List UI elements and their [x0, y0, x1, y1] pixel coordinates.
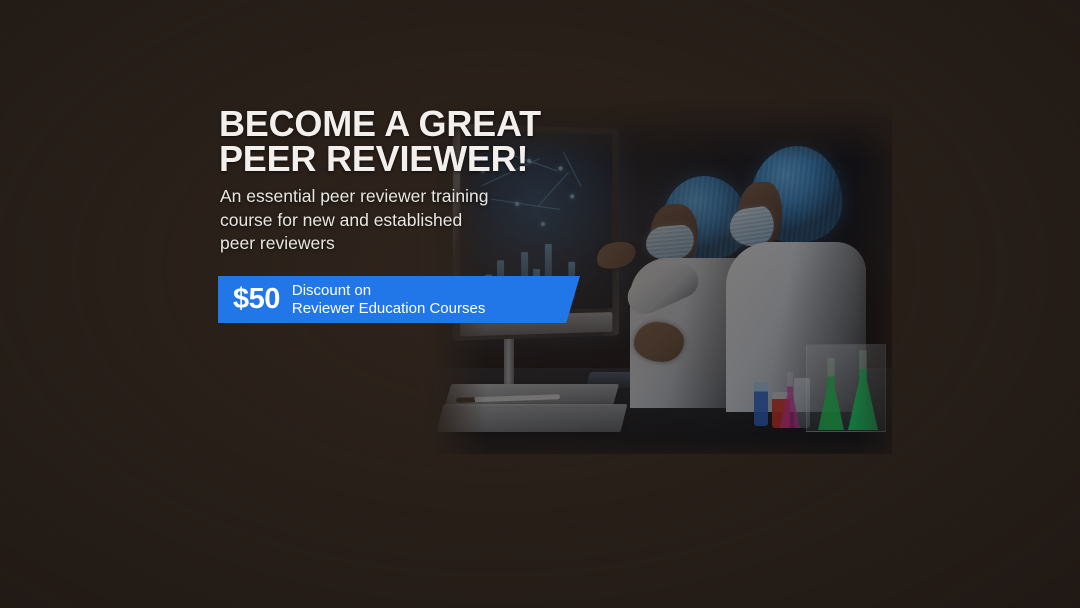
discount-promo-banner[interactable]: $50 Discount on Reviewer Education Cours…	[218, 276, 580, 323]
discount-amount: $50	[233, 285, 280, 314]
page-title: BECOME A GREAT PEER REVIEWER!	[219, 106, 541, 176]
discount-description: Discount on Reviewer Education Courses	[292, 282, 485, 318]
discount-description-line-2: Reviewer Education Courses	[292, 300, 485, 318]
discount-description-line-1: Discount on	[292, 282, 485, 300]
reagent-bottle-blue	[754, 382, 768, 426]
gesturing-hand	[634, 322, 684, 362]
paper-stack-lower	[437, 404, 628, 432]
course-description: An essential peer reviewer training cour…	[220, 185, 488, 256]
banner-canvas: BECOME A GREAT PEER REVIEWER! An essenti…	[0, 0, 1080, 608]
